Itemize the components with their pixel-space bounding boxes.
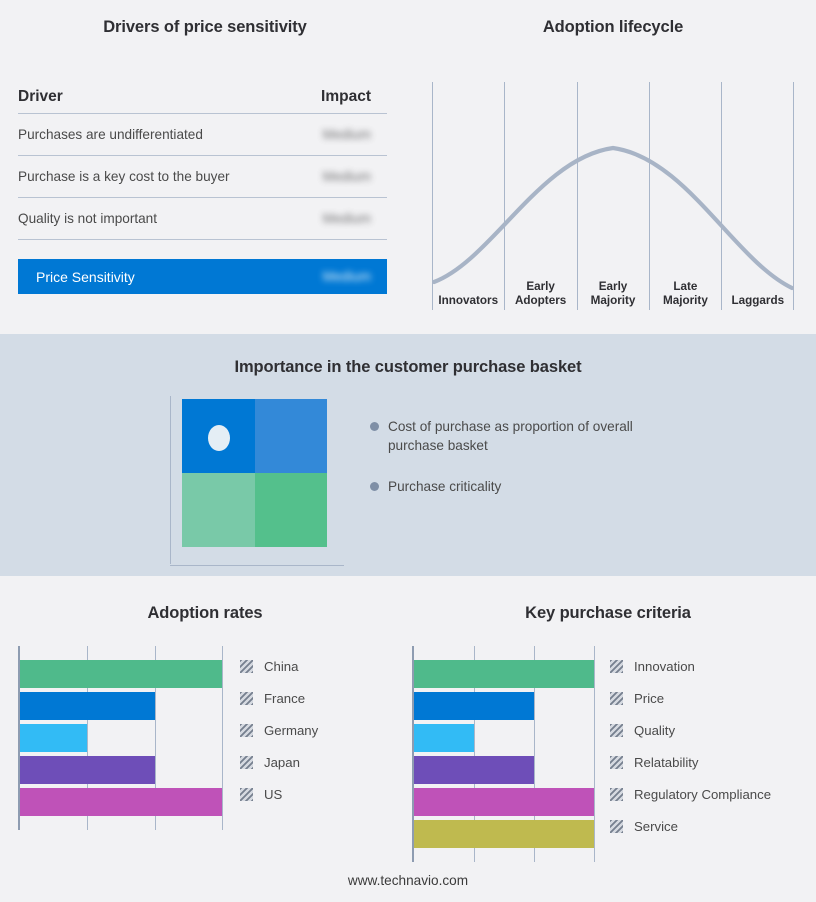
lifecycle-stage: Early Adopters	[504, 254, 576, 310]
driver-impact-value: Medium	[287, 169, 387, 184]
footer-url: www.technavio.com	[0, 873, 816, 888]
stage-line2: Majority	[591, 294, 636, 308]
legend-label: Service	[634, 819, 678, 834]
bullet-icon	[370, 422, 379, 431]
legend-item: US	[240, 778, 318, 810]
legend-item: Quality	[610, 714, 771, 746]
adoption-legend: ChinaFranceGermanyJapanUS	[240, 650, 318, 810]
lifecycle-panel: Adoption lifecycle Innovators Early Adop…	[410, 0, 816, 334]
legend-label: Cost of purchase as proportion of overal…	[388, 417, 660, 455]
bar	[414, 756, 534, 784]
legend-item: Innovation	[610, 650, 771, 682]
quadrant-grid	[182, 399, 327, 547]
quadrant-bottom-right	[255, 473, 328, 547]
stage-line1: Late	[673, 280, 697, 294]
legend-swatch-icon	[610, 692, 623, 705]
driver-impact-value: Medium	[287, 211, 387, 226]
quadrant-marker	[208, 425, 230, 451]
column-header-impact: Impact	[287, 88, 387, 106]
bar-chart-gridline	[594, 646, 595, 862]
legend-swatch-icon	[610, 788, 623, 801]
legend-label: Relatability	[634, 755, 699, 770]
legend-swatch-icon	[610, 820, 623, 833]
bar	[414, 724, 474, 752]
bar	[20, 660, 222, 688]
stage-line1: Laggards	[732, 294, 785, 308]
summary-impact-value: Medium	[287, 269, 387, 284]
legend-item: Regulatory Compliance	[610, 778, 771, 810]
quadrant-top-left	[182, 399, 255, 473]
quadrant-chart	[170, 396, 346, 566]
bullet-icon	[370, 482, 379, 491]
bar	[414, 820, 594, 848]
legend-label: Quality	[634, 723, 675, 738]
stage-line1: Innovators	[438, 294, 498, 308]
importance-legend: Cost of purchase as proportion of overal…	[370, 417, 660, 518]
bar	[20, 788, 222, 816]
legend-item: Relatability	[610, 746, 771, 778]
legend-label: Germany	[264, 723, 318, 738]
legend-swatch-icon	[610, 660, 623, 673]
quadrant-x-axis	[170, 565, 344, 566]
criteria-title: Key purchase criteria	[400, 604, 816, 623]
lifecycle-stage: Innovators	[432, 254, 504, 310]
legend-item: France	[240, 682, 318, 714]
legend-swatch-icon	[240, 692, 253, 705]
legend-label: France	[264, 691, 305, 706]
lifecycle-stage: Laggards	[722, 254, 794, 310]
legend-swatch-icon	[610, 756, 623, 769]
criteria-legend: InnovationPriceQualityRelatabilityRegula…	[610, 650, 771, 842]
criteria-panel: Key purchase criteria InnovationPriceQua…	[400, 576, 816, 902]
column-header-driver: Driver	[18, 88, 287, 106]
legend-label: Price	[634, 691, 664, 706]
bar	[414, 692, 534, 720]
lifecycle-title: Adoption lifecycle	[410, 18, 816, 37]
legend-label: Regulatory Compliance	[634, 787, 771, 802]
lifecycle-stage: Early Majority	[577, 254, 649, 310]
lifecycle-stage: Late Majority	[649, 254, 721, 310]
legend-item: Germany	[240, 714, 318, 746]
legend-item: Price	[610, 682, 771, 714]
driver-name: Purchases are undifferentiated	[18, 127, 287, 142]
legend-swatch-icon	[610, 724, 623, 737]
bar	[20, 692, 155, 720]
price-sensitivity-summary-row: Price Sensitivity Medium	[18, 259, 387, 294]
legend-swatch-icon	[240, 756, 253, 769]
bar-chart-gridline	[222, 646, 223, 830]
importance-title: Importance in the customer purchase bask…	[0, 358, 816, 377]
legend-swatch-icon	[240, 724, 253, 737]
legend-swatch-icon	[240, 788, 253, 801]
legend-label: US	[264, 787, 282, 802]
stage-line2: Majority	[663, 294, 708, 308]
quadrant-y-axis	[170, 396, 171, 564]
bar	[20, 724, 87, 752]
table-row: Purchases are undifferentiated Medium	[18, 114, 387, 156]
stage-line1: Early	[599, 280, 628, 294]
lifecycle-chart: Innovators Early Adopters Early Majority…	[432, 82, 794, 310]
drivers-panel: Drivers of price sensitivity Driver Impa…	[0, 0, 410, 334]
table-row: Purchase is a key cost to the buyer Medi…	[18, 156, 387, 198]
legend-item: Cost of purchase as proportion of overal…	[370, 417, 660, 455]
importance-panel: Importance in the customer purchase bask…	[0, 334, 816, 576]
legend-item: Service	[610, 810, 771, 842]
bar	[414, 788, 594, 816]
summary-label: Price Sensitivity	[36, 269, 287, 285]
legend-label: Innovation	[634, 659, 695, 674]
legend-item: China	[240, 650, 318, 682]
criteria-plot-area	[412, 646, 592, 862]
driver-name: Quality is not important	[18, 211, 287, 226]
table-row: Quality is not important Medium	[18, 198, 387, 240]
legend-item: Japan	[240, 746, 318, 778]
legend-label: China	[264, 659, 298, 674]
adoption-rates-panel: Adoption rates ChinaFranceGermanyJapanUS	[0, 576, 410, 902]
bar	[414, 660, 594, 688]
driver-name: Purchase is a key cost to the buyer	[18, 169, 287, 184]
legend-swatch-icon	[240, 660, 253, 673]
stage-line1: Early	[526, 280, 555, 294]
stage-line2: Adopters	[515, 294, 566, 308]
bar	[20, 756, 155, 784]
quadrant-bottom-left	[182, 473, 255, 547]
adoption-rates-title: Adoption rates	[0, 604, 410, 623]
drivers-table-header: Driver Impact	[18, 88, 387, 114]
adoption-plot-area	[18, 646, 220, 830]
quadrant-top-right	[255, 399, 328, 473]
drivers-table: Driver Impact Purchases are undifferenti…	[18, 88, 387, 294]
lifecycle-stage-labels: Innovators Early Adopters Early Majority…	[432, 254, 794, 310]
legend-label: Japan	[264, 755, 300, 770]
driver-impact-value: Medium	[287, 127, 387, 142]
drivers-title: Drivers of price sensitivity	[0, 18, 410, 37]
legend-label: Purchase criticality	[388, 477, 501, 496]
legend-item: Purchase criticality	[370, 477, 660, 496]
